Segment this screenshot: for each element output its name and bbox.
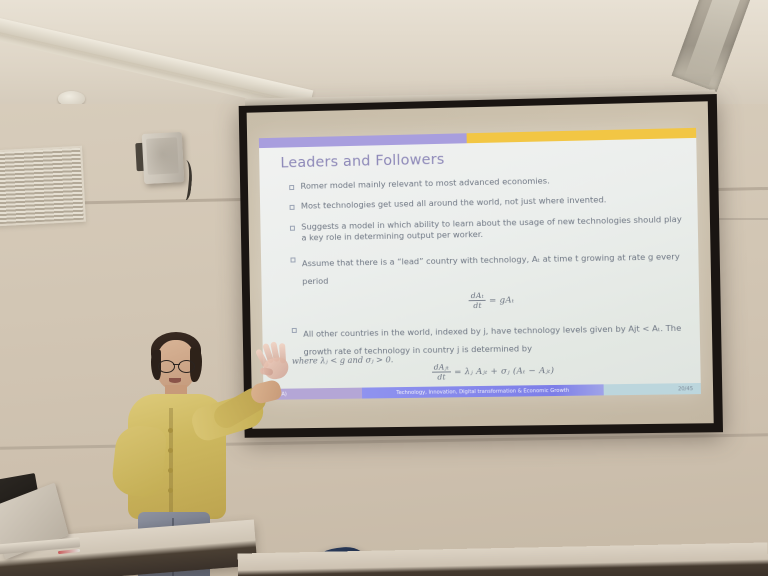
slide-topbar-purple [258, 133, 467, 148]
presenter-lower-hand [249, 379, 283, 406]
bullet-text: Suggests a model in which ability to lea… [301, 214, 682, 244]
cardigan-button [168, 488, 173, 493]
fraction-numerator: dAₜ [469, 291, 486, 301]
presenter-left-arm [110, 424, 167, 499]
bullet-text: All other countries in the world, indexe… [303, 323, 681, 357]
slide-title: Leaders and Followers [280, 151, 444, 171]
list-item: All other countries in the world, indexe… [291, 318, 685, 386]
bullet-square-icon [289, 185, 294, 190]
list-item: Assume that there is a “lead” country wi… [290, 246, 684, 315]
presentation-slide: Leaders and Followers Romer model mainly… [258, 127, 701, 400]
slide-topbar-yellow [467, 127, 697, 142]
bullet-text: Assume that there is a “lead” country wi… [302, 251, 680, 286]
cardigan-button [168, 448, 173, 453]
bullet-square-icon [290, 257, 295, 262]
where-note: where λⱼ < g and σⱼ > 0. [292, 355, 394, 366]
presenter-mouth [169, 378, 181, 383]
bullet-text: Romer model mainly relevant to most adva… [300, 175, 549, 192]
bullet-square-icon [289, 226, 294, 231]
air-vent-grille-icon [0, 146, 86, 227]
thumb [259, 367, 273, 376]
fraction: dAₜ dt [469, 291, 486, 310]
equation-lead-country: dAₜ dt = gAₜ [303, 287, 684, 312]
glasses-icon [158, 360, 195, 371]
presenter-raised-hand [255, 341, 295, 381]
equation-rhs: = gAₜ [489, 295, 514, 305]
cardigan-placket [169, 408, 173, 516]
slide-topbar [258, 127, 696, 147]
projector-screen: Leaders and Followers Romer model mainly… [239, 94, 723, 438]
cardigan-button [168, 428, 173, 433]
list-item: Most technologies get used all around th… [289, 193, 682, 212]
list-item: Romer model mainly relevant to most adva… [289, 172, 682, 192]
fraction-denominator: dt [432, 373, 452, 382]
bullet-square-icon [289, 205, 294, 210]
classroom-scene: Leaders and Followers Romer model mainly… [0, 0, 768, 576]
cardigan-button [168, 468, 173, 473]
fraction: dAⱼₜ dt [432, 363, 452, 382]
bullet-text: Most technologies get used all around th… [301, 195, 607, 213]
equation-rhs: = λⱼ Aⱼₜ + σⱼ (Aₜ − Aⱼₜ) [454, 366, 554, 377]
slide-footer-page-number: 20/45 [603, 383, 701, 395]
fraction-numerator: dAⱼₜ [432, 363, 452, 373]
slide-footer-center: Technology, Innovation, Digital transfor… [362, 385, 603, 399]
projector-screen-surface: Leaders and Followers Romer model mainly… [247, 101, 714, 428]
fraction-denominator: dt [469, 301, 486, 310]
list-item: Suggests a model in which ability to lea… [289, 214, 682, 244]
